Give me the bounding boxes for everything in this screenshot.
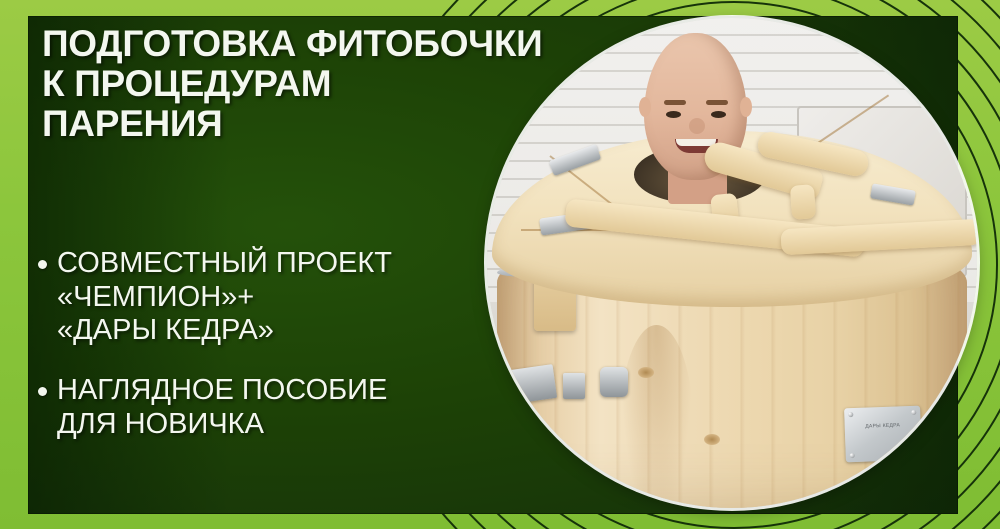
lid-hinge	[870, 183, 916, 205]
plate-screw-hole	[911, 410, 916, 415]
circular-product-photo: ДАРЫ КЕДРА	[487, 18, 977, 508]
plate-screw-hole	[850, 453, 855, 458]
bullet-dot-icon	[38, 260, 47, 269]
plate-screw-hole	[912, 451, 917, 456]
bullet-2-line-1: НАГЛЯДНОЕ ПОСОБИЕ	[57, 374, 387, 408]
feature-bullet-list: СОВМЕСТНЫЙ ПРОЕКТ «ЧЕМПИОН»+ «ДАРЫ КЕДРА…	[34, 247, 554, 467]
bullet-1-line-3: «ДАРЫ КЕДРА»	[57, 314, 392, 348]
wood-knot	[704, 434, 720, 445]
barrel-latch-center	[563, 373, 585, 399]
bullet-1-line-2: «ЧЕМПИОН»+	[57, 281, 392, 315]
lid-yoke-post-right	[790, 184, 816, 220]
barrel-latch-right	[600, 367, 628, 397]
eye-right	[711, 111, 726, 118]
title-line-3: ПАРЕНИЯ	[42, 104, 562, 144]
eye-left	[666, 111, 681, 118]
bullet-text: НАГЛЯДНОЕ ПОСОБИЕ ДЛЯ НОВИЧКА	[57, 374, 387, 441]
plate-text: ДАРЫ КЕДРА	[853, 422, 913, 432]
list-item: СОВМЕСТНЫЙ ПРОЕКТ «ЧЕМПИОН»+ «ДАРЫ КЕДРА…	[34, 247, 554, 348]
title-line-1: ПОДГОТОВКА ФИТОБОЧКИ	[42, 24, 562, 64]
manufacturer-nameplate: ДАРЫ КЕДРА	[844, 405, 922, 462]
bullet-text: СОВМЕСТНЫЙ ПРОЕКТ «ЧЕМПИОН»+ «ДАРЫ КЕДРА…	[57, 247, 392, 348]
barrel-latch-left	[509, 364, 557, 404]
page-title: ПОДГОТОВКА ФИТОБОЧКИ К ПРОЦЕДУРАМ ПАРЕНИ…	[42, 24, 562, 144]
ear-left	[639, 97, 651, 117]
title-line-2: К ПРОЦЕДУРАМ	[42, 64, 562, 104]
bullet-dot-icon	[38, 387, 47, 396]
list-item: НАГЛЯДНОЕ ПОСОБИЕ ДЛЯ НОВИЧКА	[34, 374, 554, 441]
eyebrow-left	[664, 100, 686, 105]
plate-screw-hole	[848, 412, 853, 417]
promo-banner: ПОДГОТОВКА ФИТОБОЧКИ К ПРОЦЕДУРАМ ПАРЕНИ…	[0, 0, 1000, 529]
nose	[689, 118, 705, 134]
ear-right	[740, 97, 752, 117]
bullet-2-line-2: ДЛЯ НОВИЧКА	[57, 408, 387, 442]
headline-block: ПОДГОТОВКА ФИТОБОЧКИ К ПРОЦЕДУРАМ ПАРЕНИ…	[42, 24, 562, 144]
eyebrow-right	[706, 100, 728, 105]
bullet-1-line-1: СОВМЕСТНЫЙ ПРОЕКТ	[57, 247, 392, 281]
